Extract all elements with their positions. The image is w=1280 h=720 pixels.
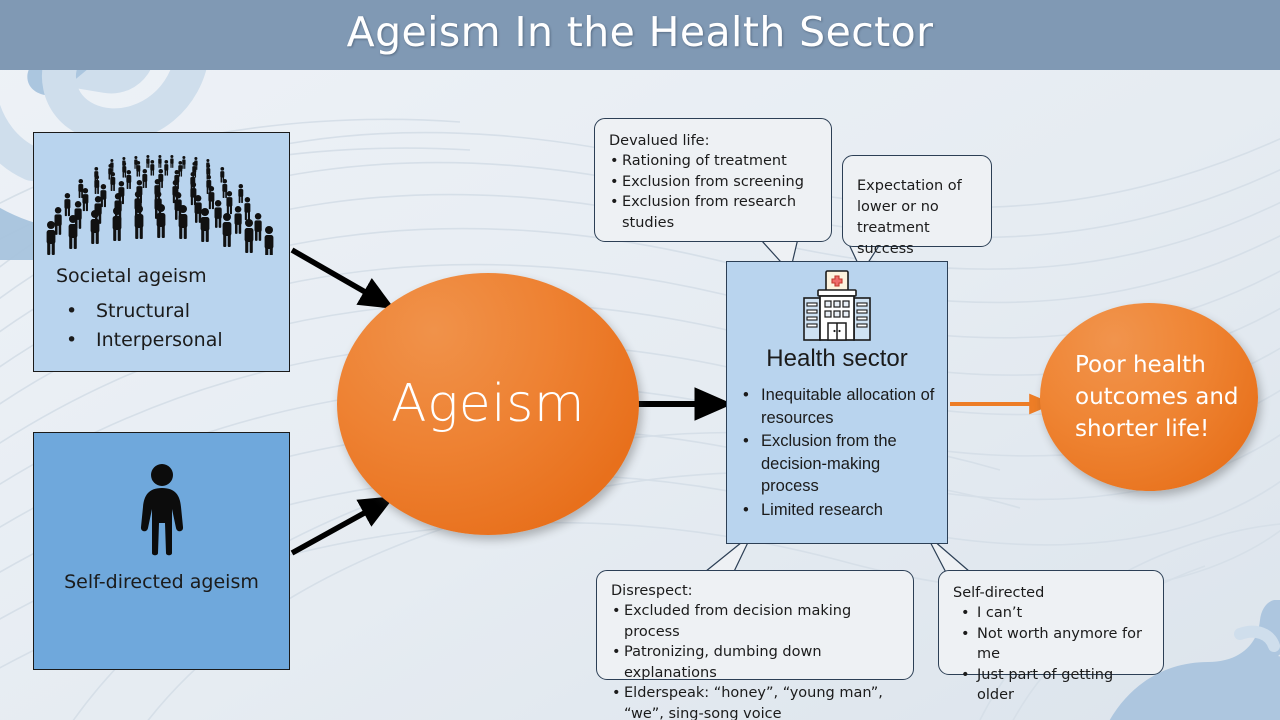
callout-expectation[interactable]: Expectation of lower or no treatment suc… <box>842 155 992 247</box>
hospital-icon <box>727 270 947 347</box>
list-item: Patronizing, dumbing down explanations <box>611 642 901 683</box>
callout-list: Rationing of treatment Exclusion from sc… <box>609 151 817 233</box>
list-item: I can’t <box>953 603 1151 624</box>
list-item: Not worth anymore for me <box>953 624 1151 665</box>
list-item: Excluded from decision making process <box>611 601 901 642</box>
list-item: Structural <box>56 297 267 326</box>
callout-title: Devalued life: <box>609 131 817 151</box>
callout-self-directed-thoughts[interactable]: Self-directed I can’t Not worth anymore … <box>938 570 1164 675</box>
list-item: Exclusion from the decision-making proce… <box>741 430 937 498</box>
ageism-label: Ageism <box>391 374 585 434</box>
ageism-circle[interactable]: Ageism <box>337 273 639 535</box>
outcome-label: Poor health outcomes and shorter life! <box>1040 349 1258 445</box>
list-item: Limited research <box>741 499 937 522</box>
self-directed-ageism-title: Self-directed ageism <box>34 571 289 593</box>
callout-disrespect[interactable]: Disrespect: Excluded from decision makin… <box>596 570 914 680</box>
societal-ageism-list: Structural Interpersonal <box>34 297 289 355</box>
callout-devalued-life[interactable]: Devalued life: Rationing of treatment Ex… <box>594 118 832 242</box>
callout-list: I can’t Not worth anymore for me Just pa… <box>953 603 1151 706</box>
list-item: Rationing of treatment <box>609 151 817 172</box>
poor-health-outcome-circle[interactable]: Poor health outcomes and shorter life! <box>1040 303 1258 491</box>
slide-canvas: Ageism In the Health Sector <box>0 0 1280 720</box>
list-item: Elderspeak: “honey”, “young man”, “we”, … <box>611 683 901 720</box>
health-sector-title: Health sector <box>727 345 947 373</box>
list-item: Exclusion from screening <box>609 172 817 193</box>
person-icon <box>34 461 289 557</box>
health-sector-list: Inequitable allocation of resources Excl… <box>727 384 947 522</box>
list-item: Exclusion from research studies <box>609 192 817 233</box>
societal-ageism-box[interactable]: Societal ageism Structural Interpersonal <box>33 132 290 372</box>
self-directed-ageism-box[interactable]: Self-directed ageism <box>33 432 290 670</box>
callout-title: Disrespect: <box>611 581 901 601</box>
health-sector-box[interactable]: Health sector Inequitable allocation of … <box>726 261 948 544</box>
list-item: Inequitable allocation of resources <box>741 384 937 429</box>
callout-title: Self-directed <box>953 583 1151 603</box>
list-item: Just part of getting older <box>953 665 1151 706</box>
societal-ageism-title: Societal ageism <box>34 265 289 287</box>
crowd-icon <box>34 151 289 255</box>
callout-text: Expectation of lower or no treatment suc… <box>857 176 979 260</box>
list-item: Interpersonal <box>56 326 267 355</box>
callout-list: Excluded from decision making process Pa… <box>611 601 901 720</box>
